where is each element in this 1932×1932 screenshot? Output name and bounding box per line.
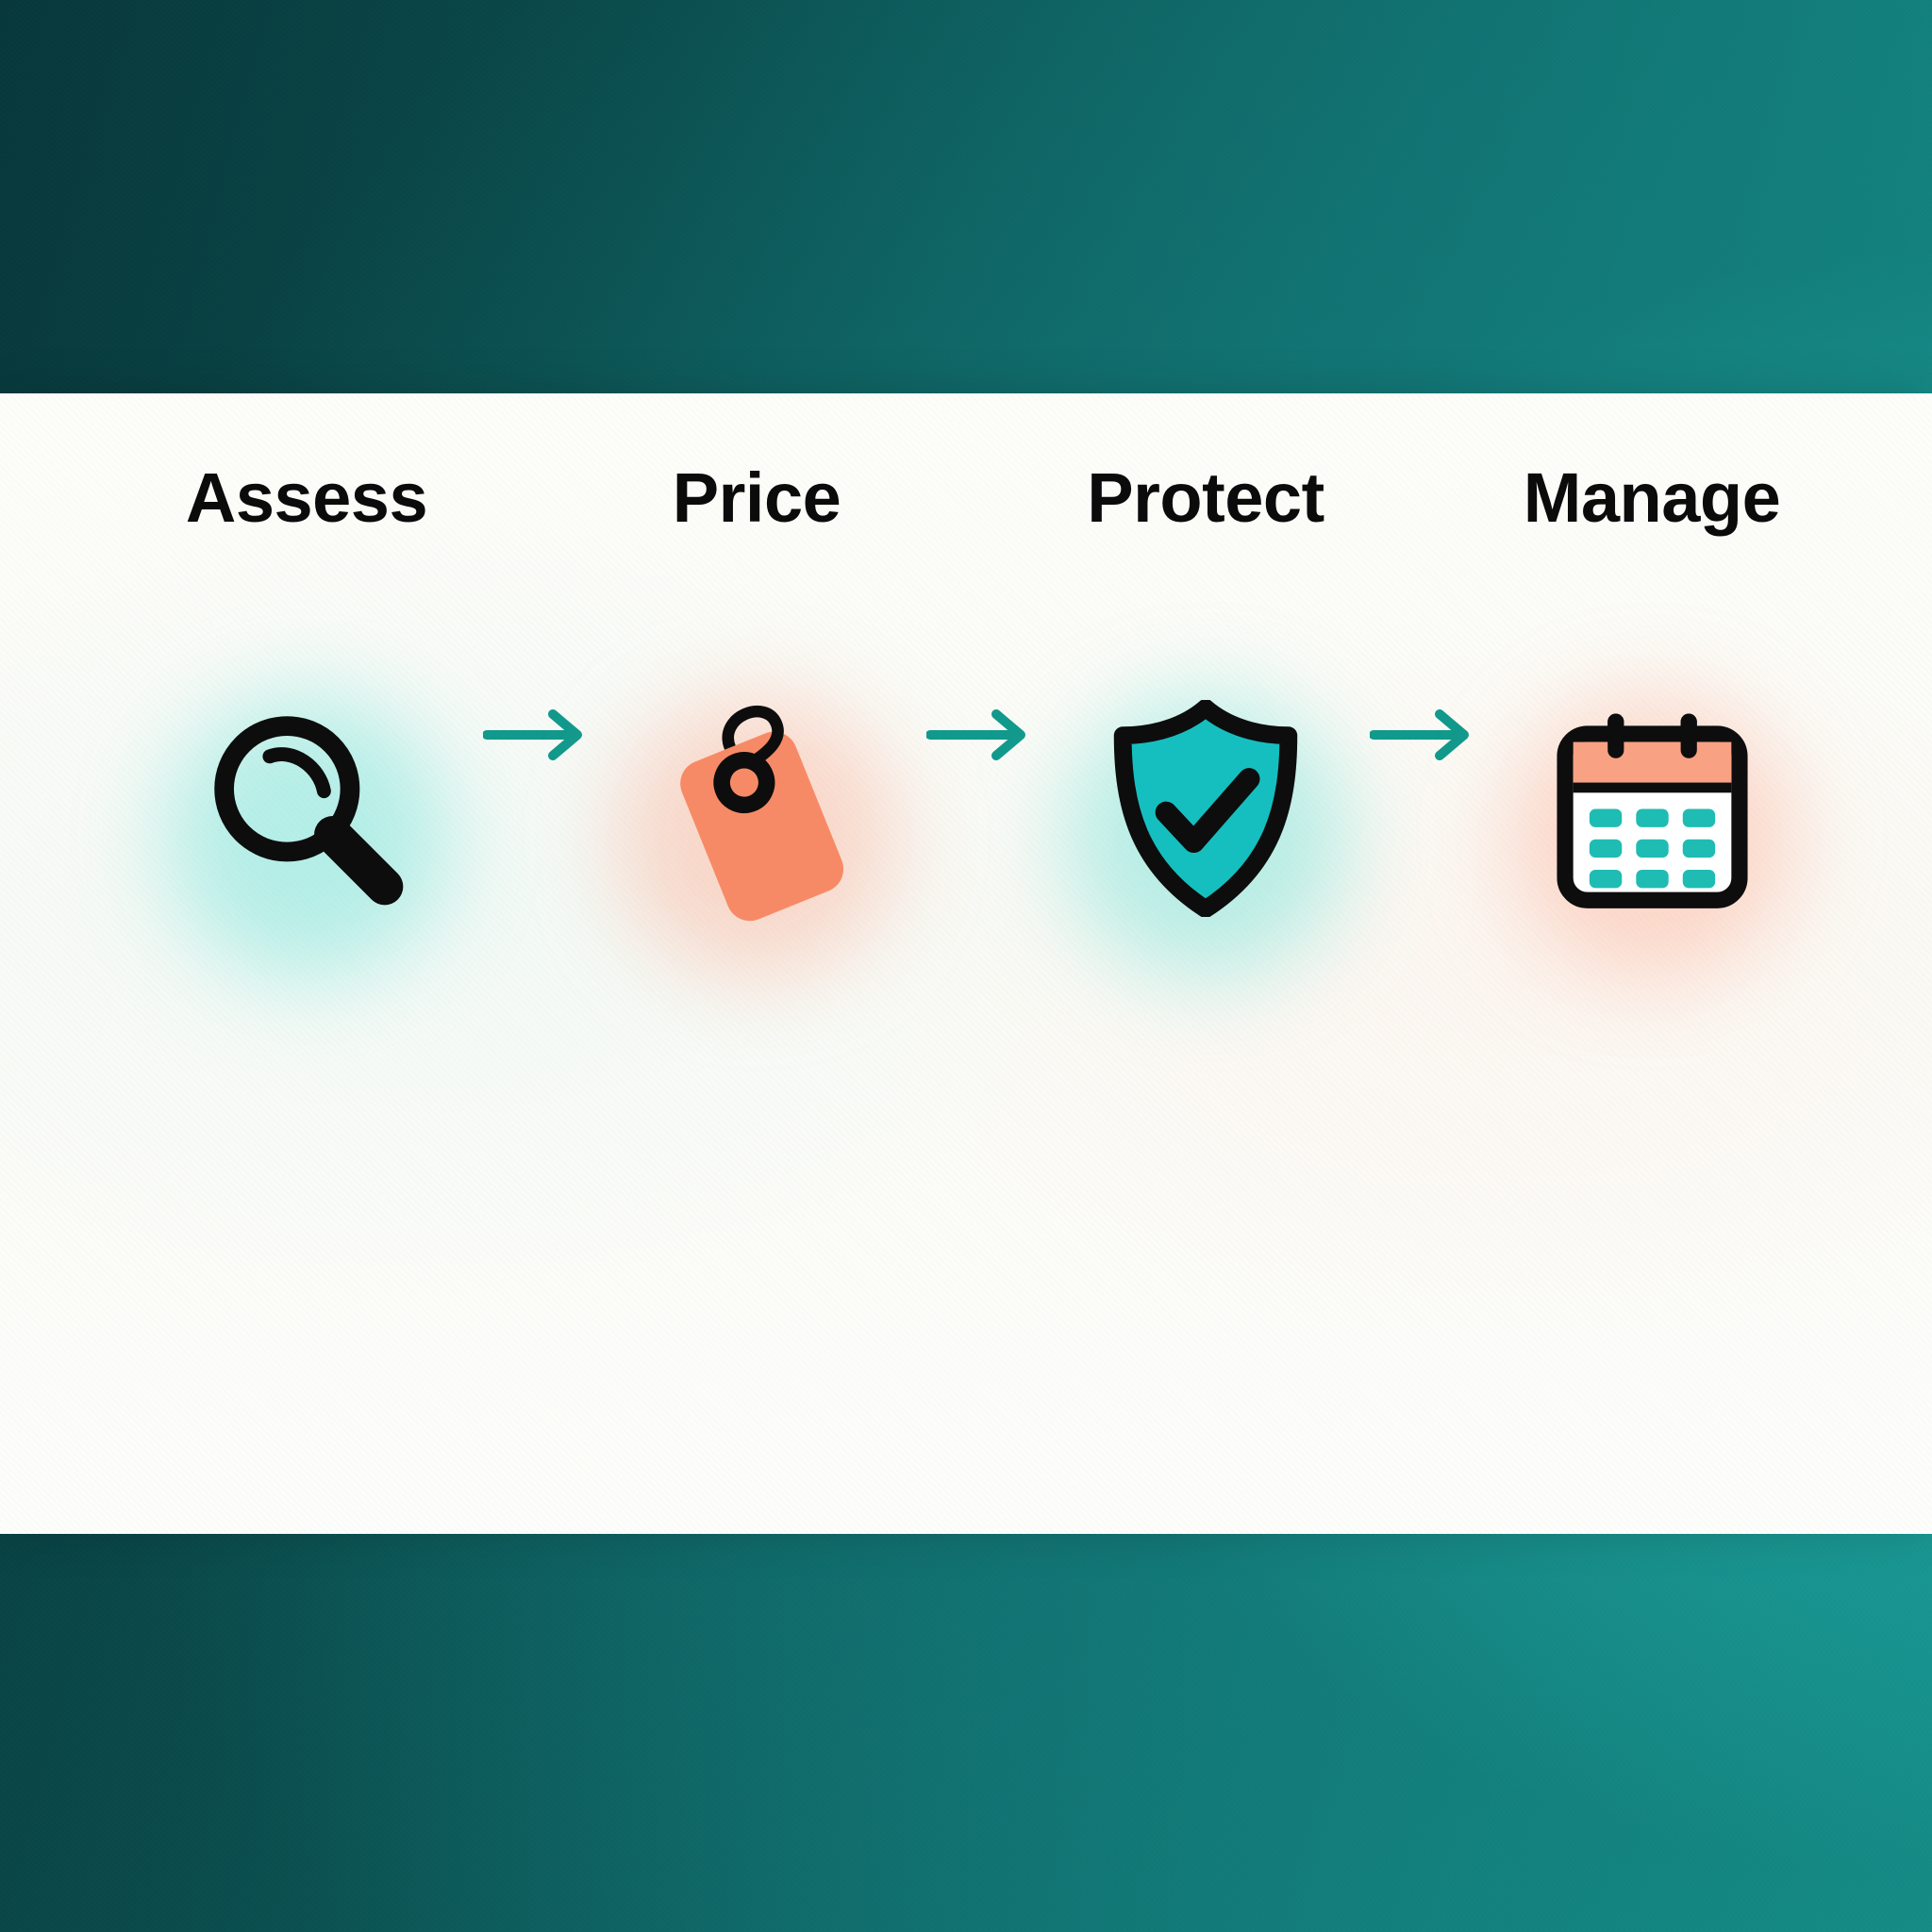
shield-check-icon xyxy=(1107,700,1305,917)
flow-connector-2 xyxy=(926,705,1040,765)
flow-step-icon-manage xyxy=(1496,658,1807,959)
content-panel: Assess Price xyxy=(0,393,1932,1534)
infographic-canvas: Assess Price xyxy=(0,0,1932,1932)
flow-step-icon-protect xyxy=(1050,658,1361,959)
flow-step-label-assess: Assess xyxy=(151,463,462,533)
flow-connector-1 xyxy=(483,705,596,765)
magnifying-glass-icon xyxy=(198,700,415,917)
flow-step-protect[interactable]: Protect xyxy=(1050,463,1361,959)
flow-step-assess[interactable]: Assess xyxy=(151,463,462,959)
flow-step-icon-assess xyxy=(151,658,462,959)
flow-step-label-protect: Protect xyxy=(1050,463,1361,533)
flow-step-label-price: Price xyxy=(601,463,912,533)
flow-step-price[interactable]: Price xyxy=(601,463,912,959)
calendar-icon xyxy=(1551,708,1754,910)
flow-connector-3 xyxy=(1370,705,1483,765)
arrow-right-icon xyxy=(483,705,596,765)
flow-step-icon-price xyxy=(601,658,912,959)
flow-step-label-manage: Manage xyxy=(1496,463,1807,533)
arrow-right-icon xyxy=(1370,705,1483,765)
process-flow: Assess Price xyxy=(0,393,1932,1534)
arrow-right-icon xyxy=(926,705,1040,765)
price-tag-icon xyxy=(639,691,874,926)
flow-step-manage[interactable]: Manage xyxy=(1496,463,1807,959)
